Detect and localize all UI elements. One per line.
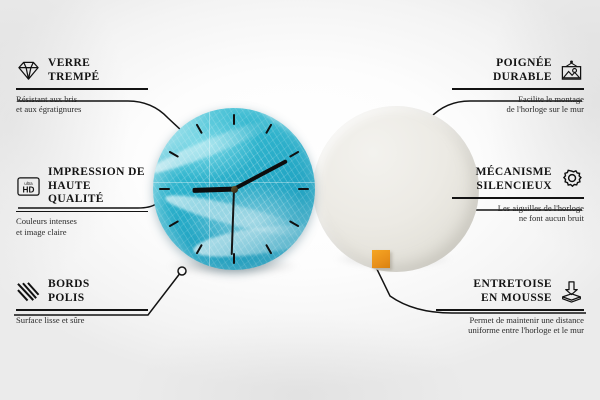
hour-marker [289, 151, 300, 158]
hour-marker [169, 220, 180, 227]
diagonal-stripes-icon [16, 280, 41, 303]
feature-desc-line1: Couleurs intenses [16, 216, 148, 227]
foam-spacer-pad [372, 250, 390, 268]
feature-desc-line2: uniforme entre l'horloge et le mur [436, 325, 584, 336]
hour-marker [298, 188, 309, 190]
feature-desc-line1: Surface lisse et sûre [16, 315, 148, 326]
divider [16, 309, 148, 311]
feature-desc-line1: Résistant aux bris [16, 94, 148, 105]
feature-title-line1: BORDS [48, 278, 90, 292]
feature-title-line1: POIGNÉE [493, 57, 552, 71]
feature-title-line2: EN MOUSSE [473, 292, 552, 306]
infographic-stage: VERRE TREMPÉ Résistant aux bris et aux é… [0, 0, 600, 400]
hour-marker [159, 188, 170, 190]
clock-front-view [153, 108, 315, 270]
hour-marker [265, 124, 272, 135]
feature-desc-line2: et aux égratignures [16, 104, 148, 115]
hour-marker [289, 220, 300, 227]
ultra-hd-big-label: HD [23, 185, 35, 194]
hour-marker [265, 244, 272, 255]
feature-title-line1: MÉCANISME [476, 166, 552, 180]
hour-marker [169, 151, 180, 158]
hands-center-cap [231, 186, 238, 193]
feature-mecanisme-silencieux[interactable]: MÉCANISME SILENCIEUX Les aiguilles de l'… [452, 166, 584, 224]
feature-desc-line2: de l'horloge sur le mur [452, 104, 584, 115]
divider [452, 197, 584, 199]
feature-poignee-durable[interactable]: POIGNÉE DURABLE Facilite le montage de l… [452, 57, 584, 115]
feature-desc-line2: ne font aucun bruit [452, 213, 584, 224]
gear-icon [559, 168, 584, 191]
hour-marker [196, 124, 203, 135]
feature-title-line2: HAUTE QUALITÉ [48, 180, 148, 207]
hour-marker [196, 244, 203, 255]
foam-spacer-icon [559, 280, 584, 303]
divider [16, 88, 148, 90]
feature-title-line2: TREMPÉ [48, 71, 100, 85]
hour-marker [233, 253, 235, 264]
feature-impression-haute-qualite[interactable]: ultra HD IMPRESSION DE HAUTE QUALITÉ Cou… [16, 166, 148, 237]
diamond-icon [16, 59, 41, 82]
feature-entretoise-en-mousse[interactable]: ENTRETOISE EN MOUSSE Permet de maintenir… [436, 278, 584, 336]
feature-title-line1: IMPRESSION DE [48, 166, 148, 180]
feature-desc-line1: Facilite le montage [452, 94, 584, 105]
feature-title-line1: VERRE [48, 57, 100, 71]
hour-marker [233, 114, 235, 125]
feature-desc-line2: et image claire [16, 227, 148, 238]
divider [452, 88, 584, 90]
feature-title-line1: ENTRETOISE [473, 278, 552, 292]
feature-title-line2: POLIS [48, 292, 90, 306]
picture-hanger-icon [559, 59, 584, 82]
ultra-hd-icon: ultra HD [16, 175, 41, 198]
feature-desc-line1: Permet de maintenir une distance [436, 315, 584, 326]
feature-title-line2: SILENCIEUX [476, 180, 552, 194]
feature-verre-trempe[interactable]: VERRE TREMPÉ Résistant aux bris et aux é… [16, 57, 148, 115]
feature-bords-polis[interactable]: BORDS POLIS Surface lisse et sûre [16, 278, 148, 325]
divider [436, 309, 584, 311]
feature-title-line2: DURABLE [493, 71, 552, 85]
feature-desc-line1: Les aiguilles de l'horloge [452, 203, 584, 214]
divider [16, 211, 148, 213]
